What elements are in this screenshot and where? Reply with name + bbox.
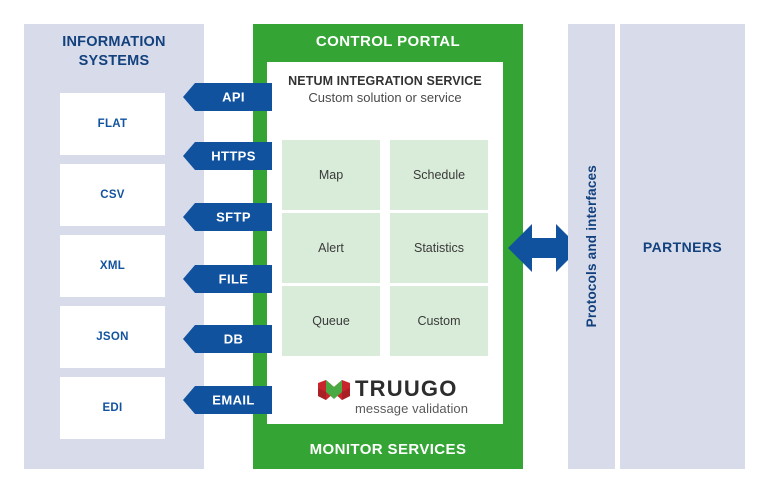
system-card-label: FLAT xyxy=(60,118,165,130)
service-tile-label: Schedule xyxy=(390,168,488,182)
information-systems-title: INFORMATION SYSTEMS xyxy=(24,33,204,71)
service-tile-queue[interactable]: Queue xyxy=(282,286,380,356)
protocol-badge-sftp[interactable]: SFTP xyxy=(183,203,272,231)
system-card-csv[interactable]: CSV xyxy=(60,164,165,226)
protocol-badge-label: SFTP xyxy=(195,210,272,225)
protocol-badge-label: API xyxy=(195,90,272,105)
protocol-badge-email[interactable]: EMAIL xyxy=(183,386,272,414)
service-tile-label: Statistics xyxy=(390,241,488,255)
system-card-label: EDI xyxy=(60,402,165,414)
partners-label: PARTNERS xyxy=(620,24,745,469)
truugo-logo: TRUUGO message validation xyxy=(267,376,503,418)
service-tile-alert[interactable]: Alert xyxy=(282,213,380,283)
service-tile-label: Alert xyxy=(282,241,380,255)
service-tile-custom[interactable]: Custom xyxy=(390,286,488,356)
service-tile-map[interactable]: Map xyxy=(282,140,380,210)
control-portal-title: CONTROL PORTAL xyxy=(253,33,523,50)
service-tile-label: Custom xyxy=(390,314,488,328)
protocol-badge-db[interactable]: DB xyxy=(183,325,272,353)
service-tile-label: Queue xyxy=(282,314,380,328)
system-card-label: CSV xyxy=(60,189,165,201)
service-tile-statistics[interactable]: Statistics xyxy=(390,213,488,283)
service-tile-label: Map xyxy=(282,168,380,182)
protocol-badge-https[interactable]: HTTPS xyxy=(183,142,272,170)
information-systems-title-line2: SYSTEMS xyxy=(24,52,204,71)
truugo-tagline: message validation xyxy=(355,401,468,416)
protocol-badge-label: EMAIL xyxy=(195,393,272,408)
system-card-flat[interactable]: FLAT xyxy=(60,93,165,155)
protocol-badge-file[interactable]: FILE xyxy=(183,265,272,293)
protocol-badge-label: HTTPS xyxy=(195,149,272,164)
truugo-shield-icon xyxy=(317,378,351,404)
service-tile-schedule[interactable]: Schedule xyxy=(390,140,488,210)
system-card-label: XML xyxy=(60,260,165,272)
information-systems-title-line1: INFORMATION xyxy=(24,33,204,52)
protocol-badge-api[interactable]: API xyxy=(183,83,272,111)
integration-service-title: NETUM INTEGRATION SERVICE xyxy=(267,74,503,88)
system-card-xml[interactable]: XML xyxy=(60,235,165,297)
protocols-interfaces-label: Protocols and interfaces xyxy=(584,165,599,327)
integration-service-subtitle: Custom solution or service xyxy=(267,90,503,105)
system-card-label: JSON xyxy=(60,331,165,343)
protocols-interfaces-label-wrap: Protocols and interfaces xyxy=(568,24,615,469)
protocol-badge-label: FILE xyxy=(195,272,272,287)
diagram-canvas: INFORMATION SYSTEMS FLAT CSV XML JSON ED… xyxy=(0,0,768,495)
protocol-badge-label: DB xyxy=(195,332,272,347)
truugo-wordmark: TRUUGO xyxy=(355,376,458,402)
system-card-json[interactable]: JSON xyxy=(60,306,165,368)
system-card-edi[interactable]: EDI xyxy=(60,377,165,439)
control-portal-footer: MONITOR SERVICES xyxy=(253,441,523,458)
